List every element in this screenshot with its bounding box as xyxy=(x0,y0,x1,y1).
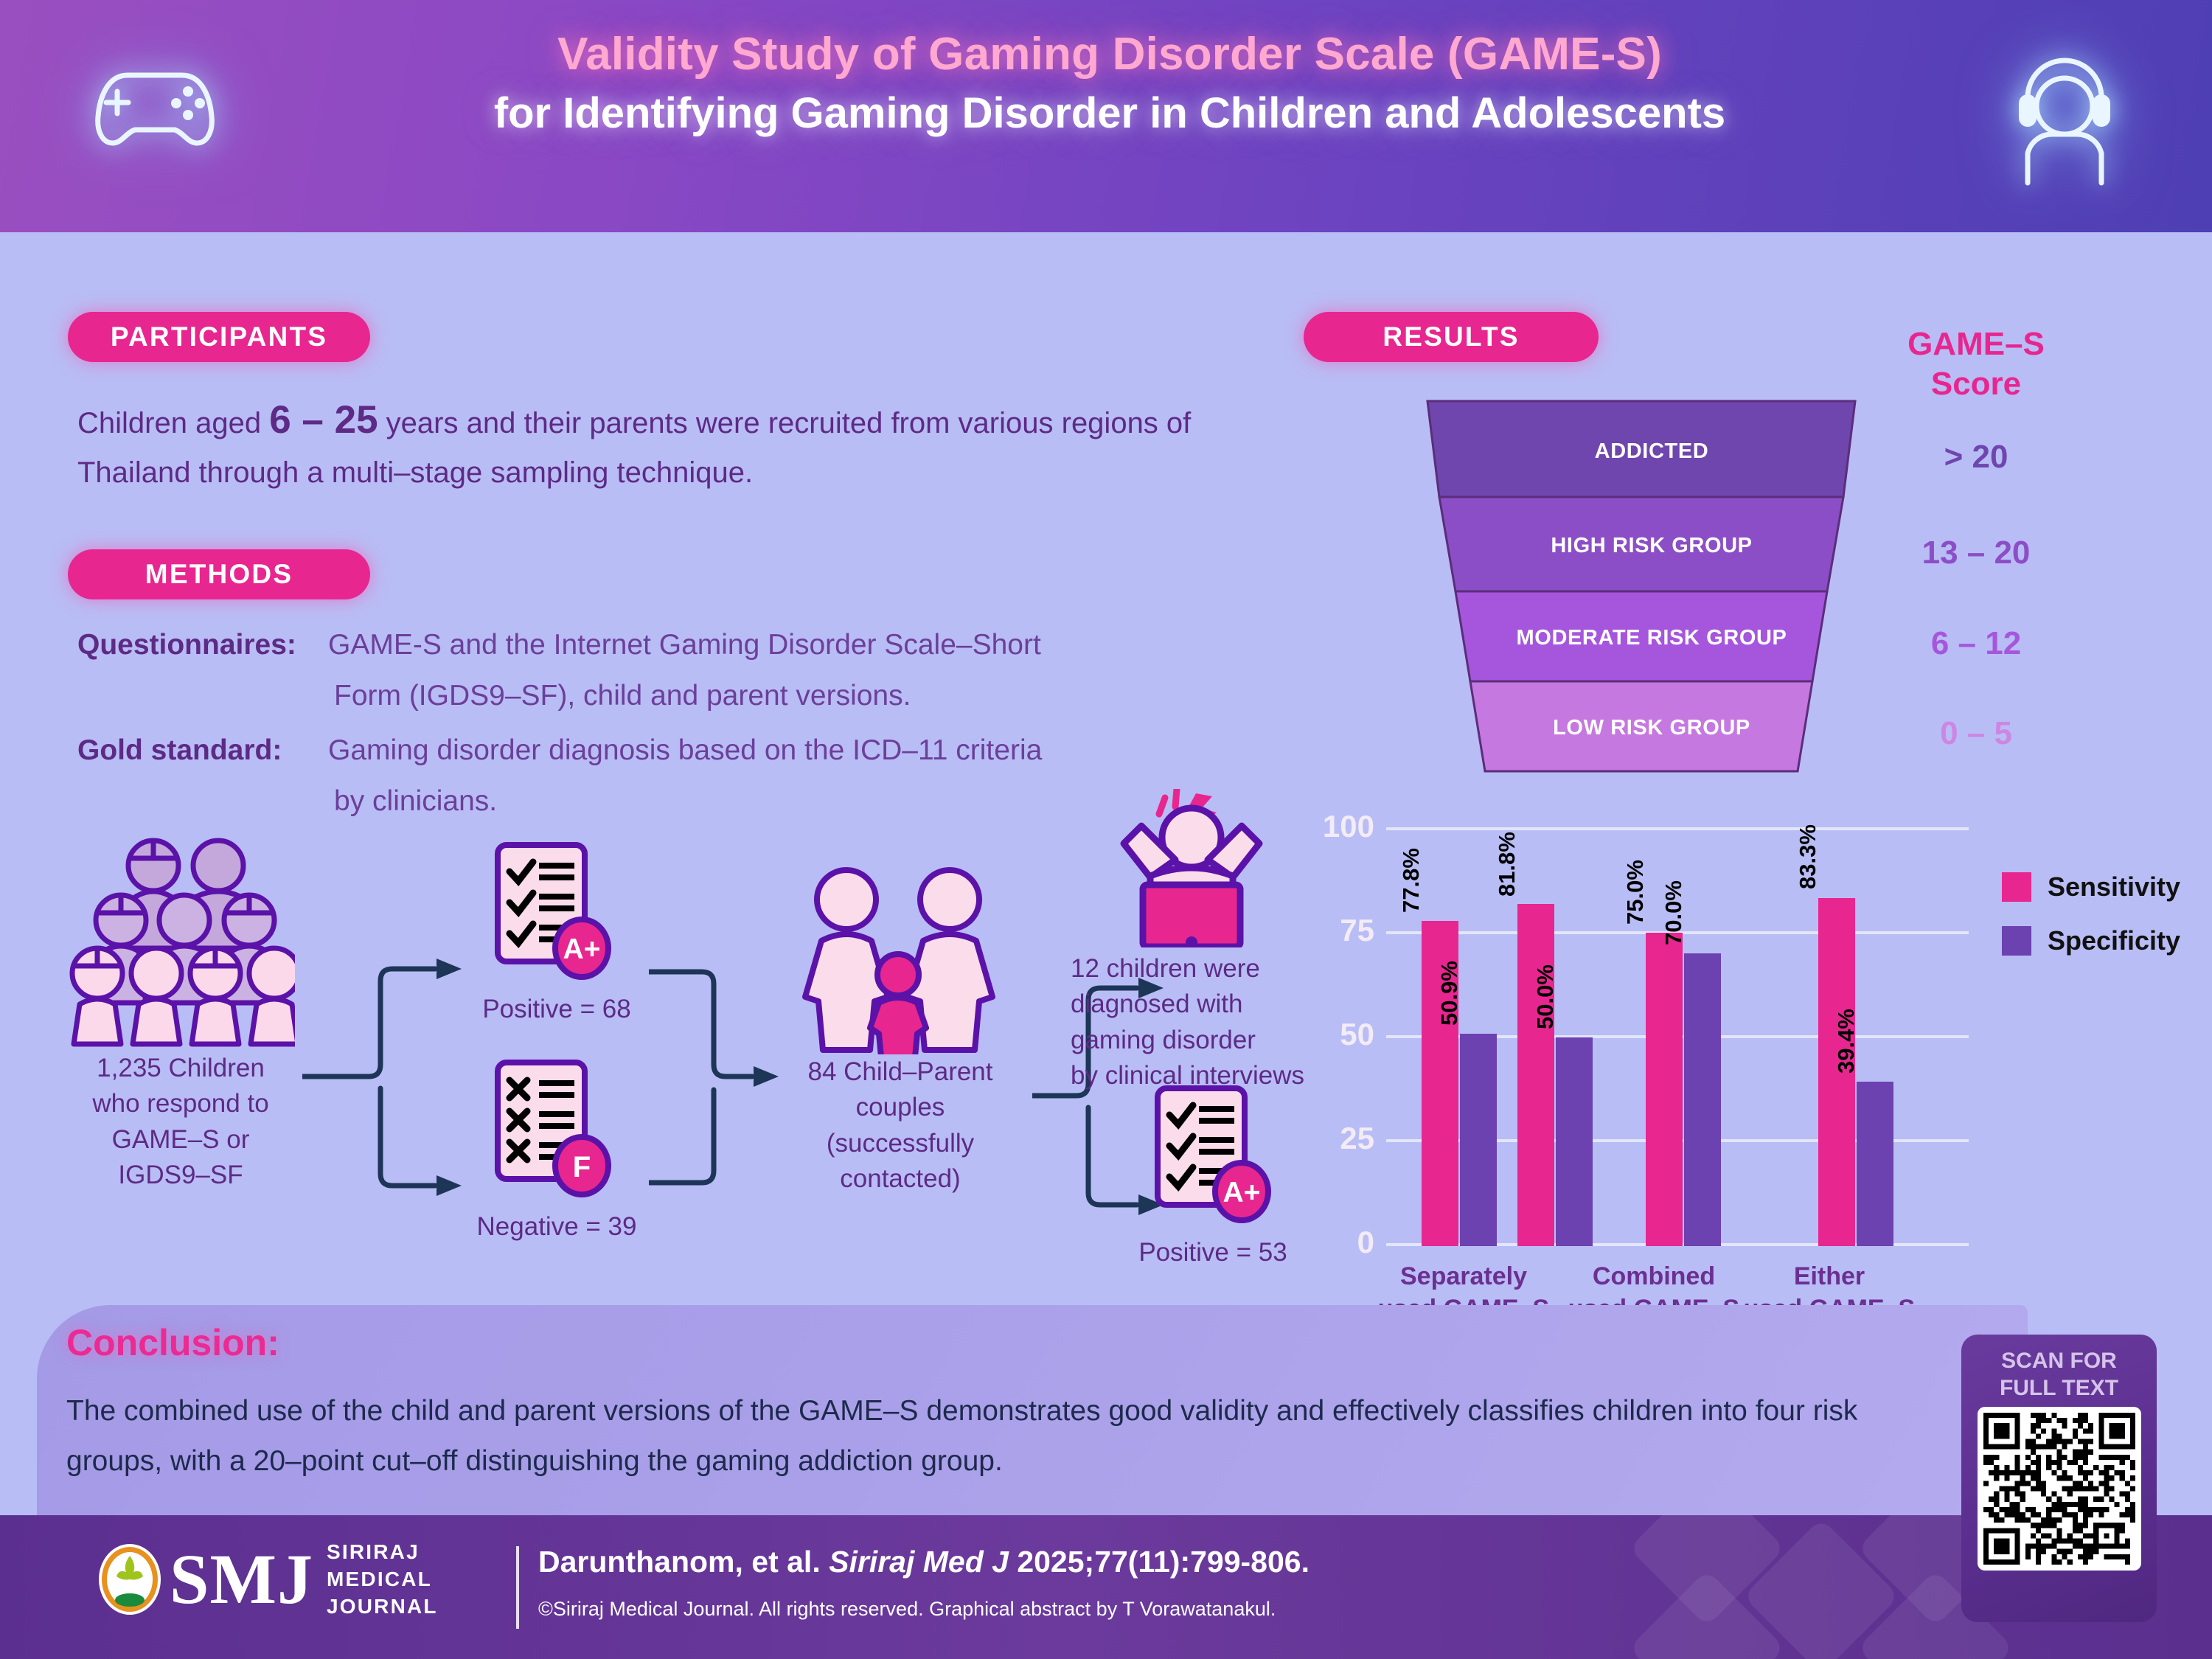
footer-divider xyxy=(516,1546,519,1629)
smj-word-journal: JOURNAL xyxy=(327,1593,438,1621)
participants-age-range: 6 – 25 xyxy=(269,398,378,442)
score-value-moderate-risk: 6 – 12 xyxy=(1865,625,2087,662)
legend-label-sensitivity: Sensitivity xyxy=(2048,872,2180,902)
citation-volume: 2025;77(11):799-806. xyxy=(1009,1545,1310,1579)
section-label-participants: PARTICIPANTS xyxy=(68,312,370,362)
funnel-label-high-risk: HIGH RISK GROUP xyxy=(1423,534,1880,558)
footer-citation: Darunthanom, et al. Siriraj Med J 2025;7… xyxy=(538,1545,1310,1579)
flow-caption-positive-53: Positive = 53 xyxy=(1106,1235,1320,1270)
chart-plot-area: 100 75 50 25 0 77.8% 50.9% 81.8% 50.0% 7… xyxy=(1386,826,1969,1246)
participants-text-before: Children aged xyxy=(77,407,269,439)
section-label-methods: METHODS xyxy=(68,549,370,599)
methods-label-gold-standard: Gold standard: xyxy=(77,728,328,772)
flow-caption-positive-68: Positive = 68 xyxy=(450,992,664,1027)
x-category-either-line1: Either xyxy=(1794,1262,1865,1290)
citation-journal: Siriraj Med J xyxy=(829,1545,1009,1579)
bar-label-83-3: 83.3% xyxy=(1795,824,1821,889)
smj-letters: SMJ xyxy=(170,1544,313,1615)
bar-label-39-4: 39.4% xyxy=(1833,1009,1860,1074)
game-s-score-header: GAME–S Score xyxy=(1865,324,2087,403)
legend-label-specificity: Specificity xyxy=(2048,925,2180,956)
bar-separately-sensitivity-parent xyxy=(1517,904,1554,1246)
methods-value-gold-standard-cont: by clinicians. xyxy=(77,779,1242,823)
methods-value-questionnaires: GAME-S and the Internet Gaming Disorder … xyxy=(328,623,1041,667)
legend-swatch-sensitivity xyxy=(2002,872,2031,902)
bar-either-specificity xyxy=(1857,1082,1893,1246)
methods-value-questionnaires-cont: Form (IGDS9–SF), child and parent versio… xyxy=(77,674,1242,717)
participants-paragraph: Children aged 6 – 25 years and their par… xyxy=(77,391,1206,495)
section-label-results: RESULTS xyxy=(1304,312,1599,362)
bar-label-81-8: 81.8% xyxy=(1494,832,1520,897)
ytick-0: 0 xyxy=(1311,1225,1374,1260)
funnel-label-addicted: ADDICTED xyxy=(1423,439,1880,464)
qr-title-line1: SCAN FOR xyxy=(1961,1348,2157,1375)
score-value-addicted: > 20 xyxy=(1865,439,2087,476)
bar-separately-specificity-parent xyxy=(1556,1037,1593,1246)
svg-text:F: F xyxy=(573,1151,591,1183)
ytick-100: 100 xyxy=(1311,809,1374,844)
score-header-line2: Score xyxy=(1865,364,2087,404)
poster-title-line1: Validity Study of Gaming Disorder Scale … xyxy=(280,27,1939,83)
conclusion-panel: Conclusion: The combined use of the chil… xyxy=(37,1305,2028,1519)
qr-code-image[interactable] xyxy=(1978,1407,2141,1571)
legend-swatch-specificity xyxy=(2002,926,2031,956)
poster-header: Validity Study of Gaming Disorder Scale … xyxy=(0,0,2212,232)
stressed-gamer-icon xyxy=(1107,789,1277,947)
flow-caption-negative-39: Negative = 39 xyxy=(450,1209,664,1245)
qr-code-svg xyxy=(1983,1413,2135,1565)
poster-title-line2: for Identifying Gaming Disorder in Child… xyxy=(280,87,1939,141)
methods-block: Questionnaires: GAME-S and the Internet … xyxy=(77,623,1242,823)
funnel-label-moderate-risk: MODERATE RISK GROUP xyxy=(1423,626,1880,650)
gridline-100 xyxy=(1386,827,1969,830)
smj-word-siriraj: SIRIRAJ xyxy=(327,1539,438,1566)
flow-caption-couples: 84 Child–Parentcouples(successfully cont… xyxy=(763,1054,1037,1197)
x-category-separately-line1: Separately xyxy=(1400,1262,1527,1290)
methods-label-questionnaires: Questionnaires: xyxy=(77,623,328,667)
bar-label-50-0: 50.0% xyxy=(1532,964,1559,1029)
sensitivity-specificity-bar-chart: 100 75 50 25 0 77.8% 50.9% 81.8% 50.0% 7… xyxy=(1320,811,2190,1327)
smj-logo: SMJ SIRIRAJ MEDICAL JOURNAL xyxy=(96,1539,438,1621)
ytick-75: 75 xyxy=(1311,913,1374,948)
checklist-positive-53-icon: A+ xyxy=(1150,1084,1283,1239)
citation-authors: Darunthanom, et al. xyxy=(538,1545,829,1579)
methods-row-questionnaires: Questionnaires: GAME-S and the Internet … xyxy=(77,623,1242,667)
ytick-25: 25 xyxy=(1311,1121,1374,1156)
footer-copyright: ©Siriraj Medical Journal. All rights res… xyxy=(538,1598,1276,1621)
bar-combined-specificity xyxy=(1684,953,1721,1246)
conclusion-body: The combined use of the child and parent… xyxy=(66,1386,1954,1487)
bar-combined-sensitivity xyxy=(1646,933,1683,1246)
smj-word-medical: MEDICAL xyxy=(327,1566,438,1593)
headset-user-icon xyxy=(2006,35,2124,190)
conclusion-title: Conclusion: xyxy=(66,1321,279,1364)
funnel-label-low-risk: LOW RISK GROUP xyxy=(1423,716,1880,740)
svg-text:A+: A+ xyxy=(563,933,601,965)
svg-text:A+: A+ xyxy=(1223,1177,1261,1208)
family-icon xyxy=(789,863,1010,1054)
x-category-combined-line1: Combined xyxy=(1593,1262,1715,1290)
graphical-abstract-poster: Validity Study of Gaming Disorder Scale … xyxy=(0,0,2212,1659)
qr-code-card[interactable]: SCAN FOR FULL TEXT xyxy=(1961,1335,2157,1622)
risk-funnel-chart: ADDICTED HIGH RISK GROUP MODERATE RISK G… xyxy=(1423,398,1880,774)
siriraj-seal-icon xyxy=(96,1543,164,1616)
qr-title-line2: FULL TEXT xyxy=(1961,1375,2157,1402)
methods-row-gold-standard: Gold standard: Gaming disorder diagnosis… xyxy=(77,728,1242,772)
poster-footer: SMJ SIRIRAJ MEDICAL JOURNAL Darunthanom,… xyxy=(0,1515,2212,1659)
bar-label-50-9: 50.9% xyxy=(1436,961,1463,1026)
bar-label-75-0: 75.0% xyxy=(1622,860,1649,925)
score-value-low-risk: 0 – 5 xyxy=(1865,715,2087,752)
qr-card-title: SCAN FOR FULL TEXT xyxy=(1961,1348,2157,1402)
bar-label-77-8: 77.8% xyxy=(1398,848,1425,913)
smj-wordmark: SIRIRAJ MEDICAL JOURNAL xyxy=(327,1539,438,1621)
bar-label-70-0: 70.0% xyxy=(1660,880,1687,945)
gamepad-icon xyxy=(85,53,225,156)
header-title-block: Validity Study of Gaming Disorder Scale … xyxy=(280,27,1939,140)
checklist-positive-icon: A+ xyxy=(490,841,623,995)
methods-value-gold-standard: Gaming disorder diagnosis based on the I… xyxy=(328,728,1042,772)
ytick-50: 50 xyxy=(1311,1017,1374,1052)
score-header-line1: GAME–S xyxy=(1865,324,2087,364)
flow-caption-children: 1,235 Childrenwho respond toGAME–S orIGD… xyxy=(66,1051,295,1193)
study-flow-diagram: 1,235 Childrenwho respond toGAME–S orIGD… xyxy=(59,833,1312,1290)
children-group-icon xyxy=(66,833,295,1047)
flow-connectors-stage1 xyxy=(302,944,494,1209)
score-value-high-risk: 13 – 20 xyxy=(1865,535,2087,571)
bar-separately-specificity-child xyxy=(1460,1034,1497,1246)
legend-item-sensitivity: Sensitivity xyxy=(2002,872,2180,902)
checklist-negative-icon: F xyxy=(490,1058,623,1213)
legend-item-specificity: Specificity xyxy=(2002,925,2180,956)
